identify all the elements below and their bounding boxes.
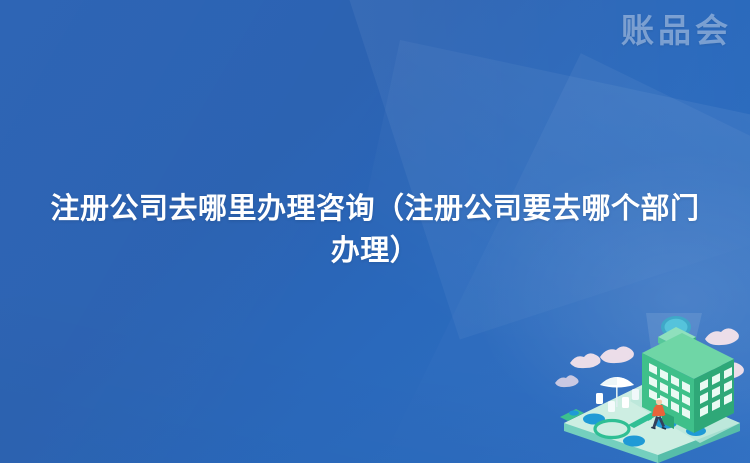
watermark-logo: 账品会 (621, 14, 732, 47)
isometric-illustration (550, 313, 750, 463)
chair (622, 397, 629, 408)
chair (596, 393, 603, 404)
cloud-icon (570, 353, 601, 368)
cloud-icon (555, 375, 579, 387)
chair (608, 401, 615, 412)
chair (632, 389, 639, 400)
pond (623, 436, 645, 447)
cloud-icon (600, 346, 634, 363)
banner-image: 账品会 注册公司去哪里办理咨询（注册公司要去哪个部门办理） (0, 0, 750, 463)
cloud-icon (705, 328, 739, 345)
page-title: 注册公司去哪里办理咨询（注册公司要去哪个部门办理） (36, 188, 714, 272)
background-facet-upper-right (330, 0, 750, 339)
